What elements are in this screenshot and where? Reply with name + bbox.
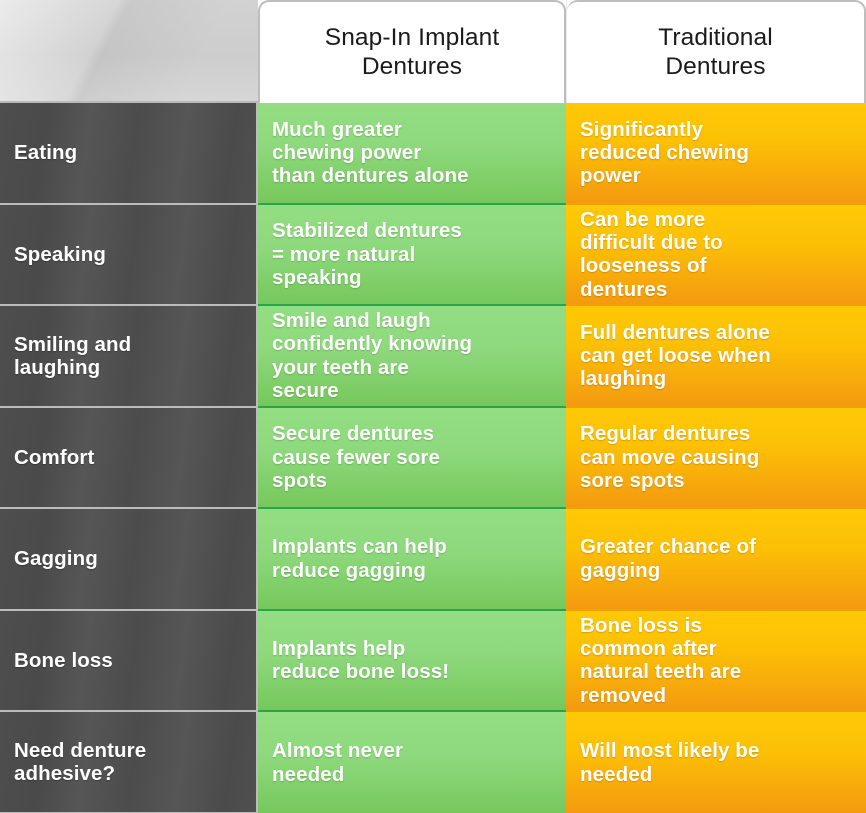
cell-traditional: Bone loss is common after natural teeth … <box>566 611 866 713</box>
cell-value: Regular dentures can move causing sore s… <box>580 422 759 492</box>
cell-value: Bone loss is common after natural teeth … <box>580 614 741 707</box>
cell-value: Stabilized dentures = more natural speak… <box>272 219 462 289</box>
cell-value: Almost never needed <box>272 739 403 786</box>
table-header-row: Snap-In Implant Dentures Traditional Den… <box>0 0 866 103</box>
row-label-cell: Speaking <box>0 205 258 307</box>
column-header-snap-in-implant-dentures: Snap-In Implant Dentures <box>258 0 566 103</box>
row-label: Gagging <box>14 547 98 570</box>
row-label: Speaking <box>14 243 106 266</box>
column-header-title: Traditional Dentures <box>658 24 773 81</box>
row-label-cell: Smiling and laughing <box>0 306 258 408</box>
cell-value: Can be more difficult due to looseness o… <box>580 208 723 301</box>
cell-traditional: Full dentures alone can get loose when l… <box>566 306 866 408</box>
cell-value: Implants help reduce bone loss! <box>272 637 449 684</box>
row-label: Comfort <box>14 446 94 469</box>
cell-snap-in: Secure dentures cause fewer sore spots <box>258 408 566 510</box>
table-row: Eating Much greater chewing power than d… <box>0 103 866 205</box>
row-label-cell: Comfort <box>0 408 258 510</box>
table-row: Gagging Implants can help reduce gagging… <box>0 509 866 611</box>
cell-traditional: Will most likely be needed <box>566 712 866 813</box>
cell-snap-in: Much greater chewing power than dentures… <box>258 103 566 205</box>
header-corner-cell <box>0 0 258 103</box>
row-label-cell: Eating <box>0 103 258 205</box>
cell-traditional: Significantly reduced chewing power <box>566 103 866 205</box>
table-row: Need denture adhesive? Almost never need… <box>0 712 866 813</box>
column-header-traditional-dentures: Traditional Dentures <box>567 0 866 103</box>
cell-snap-in: Smile and laugh confidently knowing your… <box>258 306 566 408</box>
row-label: Eating <box>14 141 77 164</box>
cell-traditional: Greater chance of gagging <box>566 509 866 611</box>
cell-value: Will most likely be needed <box>580 739 759 786</box>
cell-snap-in: Implants can help reduce gagging <box>258 509 566 611</box>
cell-value: Full dentures alone can get loose when l… <box>580 321 771 391</box>
cell-snap-in: Implants help reduce bone loss! <box>258 611 566 713</box>
cell-value: Smile and laugh confidently knowing your… <box>272 309 472 402</box>
row-label: Need denture adhesive? <box>14 739 146 785</box>
table-body: Eating Much greater chewing power than d… <box>0 103 866 813</box>
row-label: Bone loss <box>14 649 113 672</box>
cell-value: Secure dentures cause fewer sore spots <box>272 422 440 492</box>
row-label: Smiling and laughing <box>14 333 131 379</box>
comparison-table: Snap-In Implant Dentures Traditional Den… <box>0 0 866 813</box>
cell-snap-in: Stabilized dentures = more natural speak… <box>258 205 566 307</box>
table-row: Speaking Stabilized dentures = more natu… <box>0 205 866 307</box>
cell-value: Greater chance of gagging <box>580 535 756 582</box>
column-header-title: Snap-In Implant Dentures <box>325 24 499 81</box>
cell-value: Significantly reduced chewing power <box>580 118 749 188</box>
row-label-cell: Need denture adhesive? <box>0 712 258 813</box>
cell-traditional: Can be more difficult due to looseness o… <box>566 205 866 307</box>
table-row: Bone loss Implants help reduce bone loss… <box>0 611 866 713</box>
cell-value: Implants can help reduce gagging <box>272 535 447 582</box>
cell-traditional: Regular dentures can move causing sore s… <box>566 408 866 510</box>
table-row: Comfort Secure dentures cause fewer sore… <box>0 408 866 510</box>
cell-snap-in: Almost never needed <box>258 712 566 813</box>
row-label-cell: Gagging <box>0 509 258 611</box>
table-row: Smiling and laughing Smile and laugh con… <box>0 306 866 408</box>
cell-value: Much greater chewing power than dentures… <box>272 118 469 188</box>
row-label-cell: Bone loss <box>0 611 258 713</box>
